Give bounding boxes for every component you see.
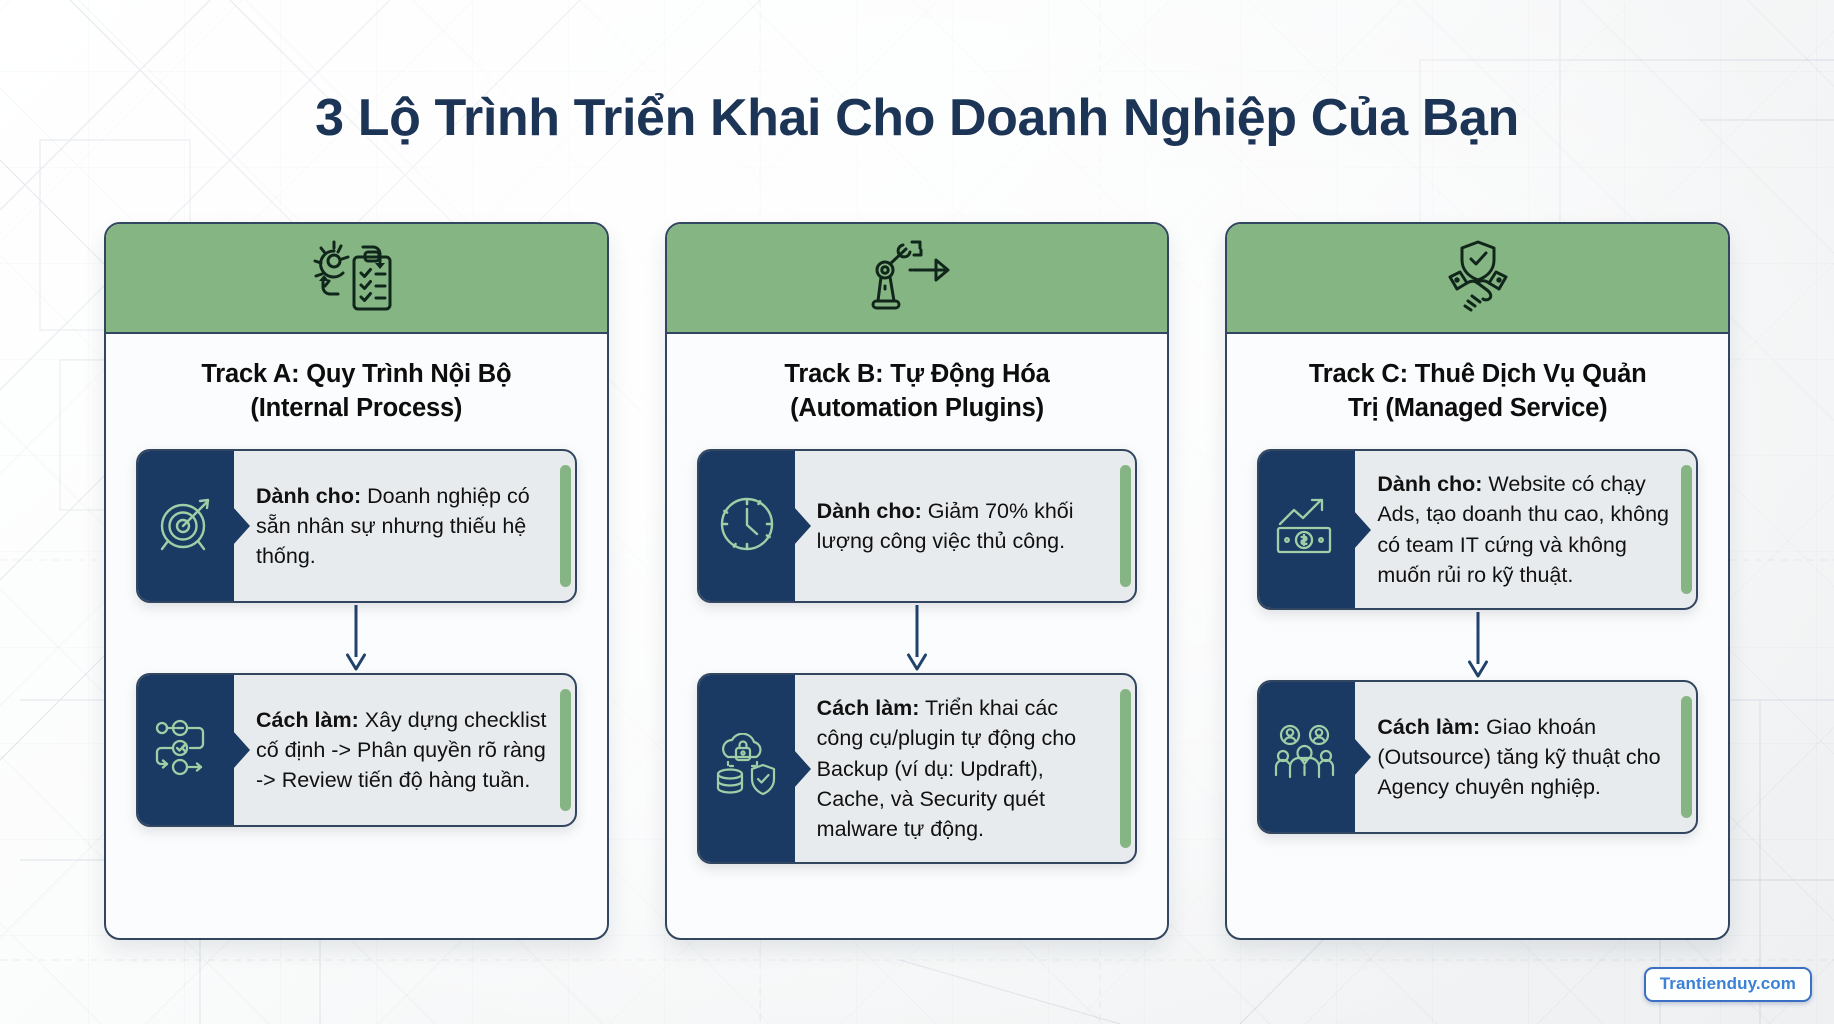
track-a-box-1-accent xyxy=(560,465,571,587)
workflow-nodes-icon xyxy=(153,717,219,784)
track-a-box-2-text: Cách làm: Xây dựng checklist cố định -> … xyxy=(234,675,575,825)
track-a-connector xyxy=(136,603,577,673)
track-b-title-line1: Track B: Tự Động Hóa xyxy=(693,358,1142,392)
page-title: 3 Lộ Trình Triển Khai Cho Doanh Nghiệp C… xyxy=(0,88,1834,148)
track-c-box-1-label: Dành cho: xyxy=(1377,472,1482,496)
track-a-box-1[interactable]: Dành cho: Doanh nghiệp có sẵn nhân sự nh… xyxy=(136,449,577,603)
handshake-shield-icon xyxy=(1430,239,1526,317)
track-b-title-line2: (Automation Plugins) xyxy=(693,392,1142,426)
track-c-box-1-icon-panel xyxy=(1259,451,1355,607)
robot-arm-icon xyxy=(869,239,965,317)
track-c-box-1-notch xyxy=(1354,511,1371,549)
track-a-title-line1: Track A: Quy Trình Nội Bộ xyxy=(132,358,581,392)
track-a-box-2[interactable]: Cách làm: Xây dựng checklist cố định -> … xyxy=(136,673,577,827)
track-card-a[interactable]: Track A: Quy Trình Nội Bộ (Internal Proc… xyxy=(104,222,609,940)
track-c-box-2[interactable]: Cách làm: Giao khoán (Outsource) tăng kỹ… xyxy=(1257,680,1698,834)
track-card-c[interactable]: Track C: Thuê Dịch Vụ Quản Trị (Managed … xyxy=(1225,222,1730,940)
track-b-box-2-text: Cách làm: Triển khai các công cụ/plugin … xyxy=(795,675,1136,861)
clock-icon xyxy=(716,493,778,560)
money-growth-chart-icon xyxy=(1274,496,1340,563)
track-b-box-1[interactable]: Dành cho: Giảm 70% khối lượng công việc … xyxy=(697,449,1138,603)
track-a-box-1-notch xyxy=(233,507,250,545)
track-b-box-2-icon-panel xyxy=(699,675,795,861)
track-a-title: Track A: Quy Trình Nội Bộ (Internal Proc… xyxy=(106,334,607,425)
track-a-title-line2: (Internal Process) xyxy=(132,392,581,426)
track-a-box-2-icon-panel xyxy=(138,675,234,825)
track-c-box-2-text: Cách làm: Giao khoán (Outsource) tăng kỹ… xyxy=(1355,682,1696,832)
track-b-box-1-icon-panel xyxy=(699,451,795,601)
track-c-header xyxy=(1227,224,1728,334)
team-people-icon xyxy=(1274,723,1340,790)
track-c-box-2-accent xyxy=(1681,696,1692,818)
track-b-box-1-notch xyxy=(794,507,811,545)
track-b-box-1-accent xyxy=(1120,465,1131,587)
cloud-lock-database-shield-icon xyxy=(714,733,780,804)
track-card-b[interactable]: Track B: Tự Động Hóa (Automation Plugins… xyxy=(665,222,1170,940)
track-c-title-line1: Track C: Thuê Dịch Vụ Quản xyxy=(1253,358,1702,392)
track-c-box-2-label: Cách làm: xyxy=(1377,715,1480,739)
track-a-spacer xyxy=(136,827,577,912)
track-c-box-1[interactable]: Dành cho: Website có chạy Ads, tạo doanh… xyxy=(1257,449,1698,609)
track-c-box-1-accent xyxy=(1681,465,1692,593)
track-b-spacer xyxy=(697,864,1138,912)
track-b-box-1-text: Dành cho: Giảm 70% khối lượng công việc … xyxy=(795,451,1136,601)
track-b-box-2-notch xyxy=(794,750,811,788)
track-b-header xyxy=(667,224,1168,334)
target-dartboard-icon xyxy=(155,493,217,560)
track-b-box-2-accent xyxy=(1120,689,1131,847)
track-a-box-1-label: Dành cho: xyxy=(256,484,361,508)
track-a-box-1-text: Dành cho: Doanh nghiệp có sẵn nhân sự nh… xyxy=(234,451,575,601)
track-b-box-2-label: Cách làm: xyxy=(817,696,920,720)
track-c-box-1-text: Dành cho: Website có chạy Ads, tạo doanh… xyxy=(1355,451,1696,607)
track-a-body: Dành cho: Doanh nghiệp có sẵn nhân sự nh… xyxy=(106,425,607,938)
watermark-badge[interactable]: Trantienduy.com xyxy=(1644,967,1812,1002)
track-a-header xyxy=(106,224,607,334)
track-b-box-2[interactable]: Cách làm: Triển khai các công cụ/plugin … xyxy=(697,673,1138,863)
track-b-title: Track B: Tự Động Hóa (Automation Plugins… xyxy=(667,334,1168,425)
track-a-box-2-label: Cách làm: xyxy=(256,708,359,732)
track-b-body: Dành cho: Giảm 70% khối lượng công việc … xyxy=(667,425,1168,938)
track-a-box-1-icon-panel xyxy=(138,451,234,601)
track-a-box-2-notch xyxy=(233,731,250,769)
track-c-title-line2: Trị (Managed Service) xyxy=(1253,392,1702,426)
infographic-canvas: 3 Lộ Trình Triển Khai Cho Doanh Nghiệp C… xyxy=(0,0,1834,1024)
track-c-box-2-notch xyxy=(1354,738,1371,776)
track-c-title: Track C: Thuê Dịch Vụ Quản Trị (Managed … xyxy=(1227,334,1728,425)
track-c-connector xyxy=(1257,610,1698,680)
track-b-connector xyxy=(697,603,1138,673)
track-b-box-1-label: Dành cho: xyxy=(817,499,922,523)
track-c-body: Dành cho: Website có chạy Ads, tạo doanh… xyxy=(1227,425,1728,938)
gears-checklist-icon xyxy=(308,239,404,317)
track-a-box-2-accent xyxy=(560,689,571,811)
track-c-box-2-icon-panel xyxy=(1259,682,1355,832)
tracks-row: Track A: Quy Trình Nội Bộ (Internal Proc… xyxy=(104,222,1730,940)
track-c-spacer xyxy=(1257,834,1698,912)
